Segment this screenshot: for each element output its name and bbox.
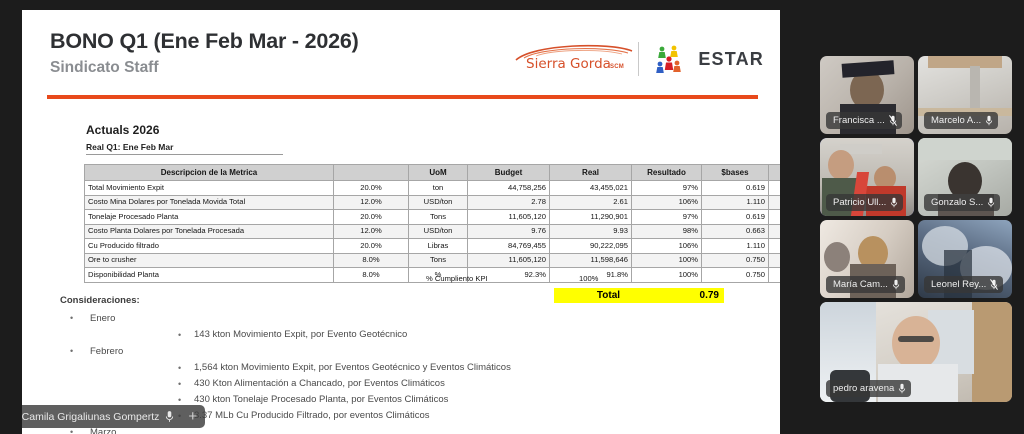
col-header-peso (334, 165, 409, 181)
participant-name: Francisca ... (833, 115, 885, 126)
cell-real: 9.93 (550, 224, 632, 239)
cell-descripcion: Costo Planta Dolares por Tonelada Proces… (85, 224, 334, 239)
estar-logo: ESTAR (655, 44, 764, 74)
kpi-table-head: Descripcion de la Metrica UoM Budget Rea… (85, 165, 781, 181)
participant-name: Marcelo A... (931, 115, 981, 126)
cell-peso: 20.0% (334, 210, 409, 225)
cell-bases: 0.750 (702, 253, 769, 268)
kpi-table-container: Descripcion de la Metrica UoM Budget Rea… (84, 164, 724, 283)
meeting-stage: BONO Q1 (Ene Feb Mar - 2026) Sindicato S… (0, 0, 1024, 434)
participant-name-chip: Gonzalo S... (924, 194, 1000, 211)
participant-name-chip: Marcelo A... (924, 112, 998, 129)
cell-peso: 20.0% (334, 239, 409, 254)
slide-subtitle: Sindicato Staff (50, 59, 159, 77)
participant-tile-leonel[interactable]: Leonel Rey... (918, 220, 1012, 298)
table-row: Total Movimiento Expit20.0%ton44,758,256… (85, 181, 781, 196)
add-presenter-plus-icon[interactable]: + (188, 409, 197, 424)
presenter-name-label: ía Camila Grigaliunas Gompertz (22, 411, 159, 423)
cell-peso: 20.0% (334, 181, 409, 196)
logo-divider (638, 42, 639, 76)
cell-budget: 9.76 (468, 224, 550, 239)
cumplimiento-row: % Cumpliento KPI 100% (84, 274, 724, 286)
cumplimiento-value: 100% (579, 274, 598, 283)
cell-pond: 0.13 (769, 195, 781, 210)
cell-pond: 0.22 (769, 239, 781, 254)
consideracion-item-label: 143 kton Movimiento Expit, por Evento Ge… (194, 329, 407, 340)
microphone-icon (987, 197, 995, 208)
participant-name-chip: Leonel Rey... (924, 276, 1003, 293)
participant-name-chip: Patricio Ull... (826, 194, 903, 211)
cell-resultado: 106% (632, 195, 702, 210)
bullet-dot-icon: • (178, 376, 181, 392)
participant-name: Gonzalo S... (931, 197, 983, 208)
sierra-gorda-suffix: SCM (610, 64, 624, 70)
cell-peso: 12.0% (334, 224, 409, 239)
wall-upper (918, 138, 1012, 160)
participant-name-chip: María Cam... (826, 276, 905, 293)
cell-peso: 8.0% (334, 253, 409, 268)
cell-pond: 0.12 (769, 210, 781, 225)
participant-name: Leonel Rey... (931, 279, 986, 290)
cell-bases: 0.663 (702, 224, 769, 239)
slide-logos: Sierra Gorda SCM (514, 32, 764, 86)
actuals-subtitle: Real Q1: Ene Feb Mar (86, 142, 283, 155)
consideracion-month-label: Enero (90, 313, 115, 324)
cell-resultado: 98% (632, 224, 702, 239)
background-person (824, 242, 850, 272)
title-divider-rule (47, 95, 758, 99)
participant-tile-marcelo[interactable]: Marcelo A... (918, 56, 1012, 134)
participant-tile-patricio[interactable]: Patricio Ull... (820, 138, 914, 216)
cell-peso: 12.0% (334, 195, 409, 210)
cell-descripcion: Cu Producido filtrado (85, 239, 334, 254)
kpi-table-body: Total Movimiento Expit20.0%ton44,758,256… (85, 181, 781, 283)
bullet-dot-icon: • (178, 360, 181, 376)
estar-people-icon (655, 44, 689, 74)
cell-resultado: 97% (632, 210, 702, 225)
participant-tile-maria[interactable]: María Cam... (820, 220, 914, 298)
cell-pond: 0.06 (769, 268, 781, 283)
microphone-muted-icon (889, 115, 897, 126)
col-header-bases: $bases (702, 165, 769, 181)
bullet-dot-icon: • (70, 310, 73, 327)
person-head (892, 316, 940, 370)
col-header-descripcion: Descripcion de la Metrica (85, 165, 334, 181)
table-row: Ore to crusher8.0%Tons11,605,12011,598,6… (85, 253, 781, 268)
cell-real: 43,455,021 (550, 181, 632, 196)
shared-slide-content[interactable]: BONO Q1 (Ene Feb Mar - 2026) Sindicato S… (22, 10, 780, 434)
table-row: Tonelaje Procesado Planta20.0%Tons11,605… (85, 210, 781, 225)
microphone-icon (898, 383, 906, 394)
cell-uom: Tons (409, 210, 468, 225)
cell-descripcion: Costo Mina Dolares por Tonelada Movida T… (85, 195, 334, 210)
cell-resultado: 106% (632, 239, 702, 254)
participant-name-chip: Francisca ... (826, 112, 902, 129)
cell-budget: 11,605,120 (468, 210, 550, 225)
consideracion-item: •143 kton Movimiento Expit, por Evento G… (60, 327, 760, 343)
cell-real: 11,290,901 (550, 210, 632, 225)
consideracion-item-label: 3.37 MLb Cu Producido Filtrado, por even… (194, 410, 430, 421)
cell-uom: USD/ton (409, 195, 468, 210)
consideracion-item-label: 1,564 kton Movimiento Expit, por Eventos… (194, 362, 511, 373)
cell-real: 2.61 (550, 195, 632, 210)
sierra-gorda-wordmark: Sierra Gorda (526, 56, 611, 72)
col-header-uom: UoM (409, 165, 468, 181)
cell-budget: 11,605,120 (468, 253, 550, 268)
consideracion-month-label: Febrero (90, 346, 123, 357)
cell-budget: 2.78 (468, 195, 550, 210)
kpi-table-footer: % Cumpliento KPI 100% Total 0.79 (84, 274, 724, 286)
cell-budget: 84,769,455 (468, 239, 550, 254)
cell-descripcion: Ore to crusher (85, 253, 334, 268)
cell-real: 11,598,646 (550, 253, 632, 268)
participant-name: pedro aravena (833, 383, 894, 394)
col-header-budget: Budget (468, 165, 550, 181)
cell-uom: ton (409, 181, 468, 196)
participant-name: Patricio Ull... (833, 197, 886, 208)
eyeglasses (898, 336, 934, 342)
bullet-dot-icon: • (178, 327, 181, 343)
sierra-gorda-logo: Sierra Gorda SCM (514, 39, 624, 79)
consideracion-month: •Febrero (60, 343, 760, 360)
cell-pond: 0.08 (769, 224, 781, 239)
cell-budget: 44,758,256 (468, 181, 550, 196)
consideracion-item-label: 430 Kton Alimentación a Chancado, por Ev… (194, 378, 445, 389)
cell-bases: 1.110 (702, 239, 769, 254)
cell-bases: 0.619 (702, 181, 769, 196)
participant-tile-pedro[interactable]: pedro aravena (820, 302, 1012, 402)
table-row: Costo Mina Dolares por Tonelada Movida T… (85, 195, 781, 210)
consideraciones-heading: Consideraciones: (60, 295, 760, 306)
cell-bases: 0.619 (702, 210, 769, 225)
participant-tile-francisca[interactable]: Francisca ... (820, 56, 914, 134)
slide-title: BONO Q1 (Ene Feb Mar - 2026) (50, 29, 359, 54)
cell-real: 90,222,095 (550, 239, 632, 254)
cell-resultado: 100% (632, 253, 702, 268)
participant-tile-gonzalo[interactable]: Gonzalo S... (918, 138, 1012, 216)
person-head (828, 150, 854, 180)
cell-resultado: 97% (632, 181, 702, 196)
table-row: Cu Producido filtrado20.0%Libras84,769,4… (85, 239, 781, 254)
bullet-dot-icon: • (70, 343, 73, 360)
cell-bases: 1.110 (702, 195, 769, 210)
microphone-muted-icon (990, 279, 998, 290)
graduation-cap (842, 60, 895, 78)
participant-name: María Cam... (833, 279, 888, 290)
consideracion-month-label: Marzo (90, 427, 116, 434)
presenter-name-overlay: ía Camila Grigaliunas Gompertz + (22, 405, 205, 428)
col-header-resultado: Resultado (632, 165, 702, 181)
cell-uom: Tons (409, 253, 468, 268)
cell-uom: USD/ton (409, 224, 468, 239)
cell-descripcion: Tonelaje Procesado Planta (85, 210, 334, 225)
cumplimiento-label: % Cumpliento KPI (426, 274, 488, 283)
cell-descripcion: Total Movimiento Expit (85, 181, 334, 196)
consideracion-item: •430 Kton Alimentación a Chancado, por E… (60, 376, 760, 392)
consideracion-item-label: 430 kton Tonelaje Procesado Planta, por … (194, 394, 448, 405)
cell-pond: 0.06 (769, 253, 781, 268)
microphone-icon (890, 197, 898, 208)
microphone-icon (892, 279, 900, 290)
ceiling-beam (928, 56, 1002, 68)
actuals-title: Actuals 2026 (86, 123, 159, 137)
consideracion-month: •Enero (60, 310, 760, 327)
col-header-real: Real (550, 165, 632, 181)
participant-name-chip: pedro aravena (826, 380, 911, 397)
cell-uom: Libras (409, 239, 468, 254)
estar-wordmark: ESTAR (698, 49, 764, 70)
cell-pond: 0.12 (769, 181, 781, 196)
kpi-table-header-row: Descripcion de la Metrica UoM Budget Rea… (85, 165, 781, 181)
consideracion-item: •1,564 kton Movimiento Expit, por Evento… (60, 360, 760, 376)
table-row: Costo Planta Dolares por Tonelada Proces… (85, 224, 781, 239)
microphone-icon (985, 115, 993, 126)
microphone-icon (165, 410, 174, 423)
kpi-table: Descripcion de la Metrica UoM Budget Rea… (84, 164, 780, 283)
col-header-pond: pónd (769, 165, 781, 181)
wood-panel (972, 302, 1012, 402)
participant-rail: Francisca ... Marcelo A... (812, 0, 1024, 434)
